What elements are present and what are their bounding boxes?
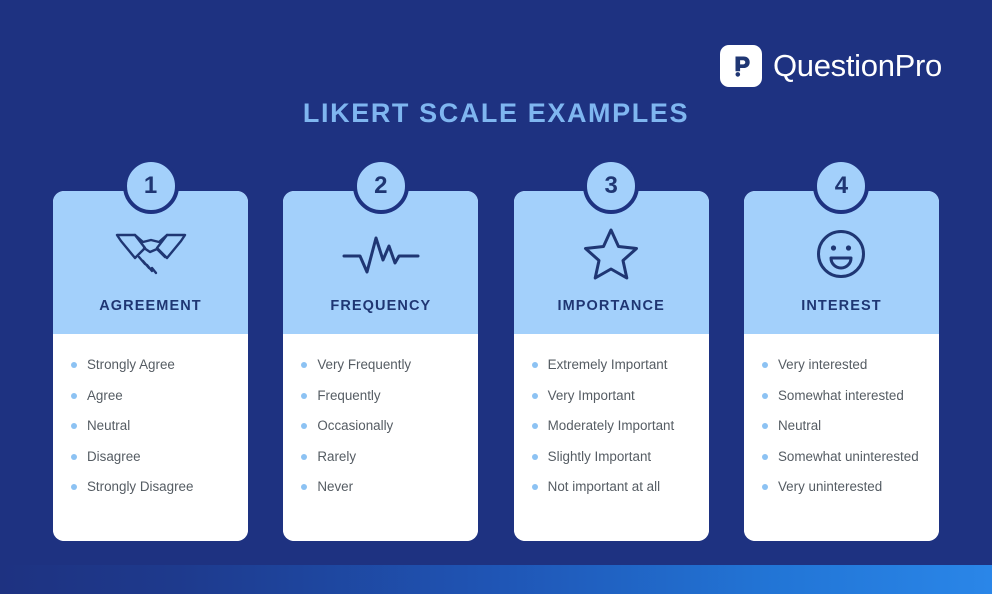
- heartbeat-pulse-icon: [341, 224, 421, 284]
- card-label: INTEREST: [801, 298, 882, 314]
- card-body: Extremely Important Very Important Moder…: [514, 334, 709, 541]
- list-item: Somewhat interested: [758, 387, 925, 406]
- list-item: Neutral: [758, 417, 925, 436]
- card-header: 1 AGREEMENT: [53, 191, 248, 334]
- option-list: Strongly Agree Agree Neutral Disagree St…: [67, 356, 234, 497]
- list-item: Extremely Important: [528, 356, 695, 375]
- list-item: Strongly Agree: [67, 356, 234, 375]
- likert-card-interest: 4 INTEREST Very interested Somewhat inte…: [744, 191, 939, 541]
- list-item: Moderately Important: [528, 417, 695, 436]
- likert-card-frequency: 2 FREQUENCY Very Frequently Frequently O…: [283, 191, 478, 541]
- card-label: FREQUENCY: [330, 298, 431, 314]
- likert-card-agreement: 1 AGREEMENT: [53, 191, 248, 541]
- list-item: Slightly Important: [528, 448, 695, 467]
- card-number-badge: 1: [123, 158, 179, 214]
- list-item: Very Frequently: [297, 356, 464, 375]
- card-body: Strongly Agree Agree Neutral Disagree St…: [53, 334, 248, 541]
- list-item: Rarely: [297, 448, 464, 467]
- card-body: Very interested Somewhat interested Neut…: [744, 334, 939, 541]
- questionpro-p-mark-icon: [720, 45, 762, 87]
- card-number-badge: 3: [583, 158, 639, 214]
- option-list: Very Frequently Frequently Occasionally …: [297, 356, 464, 497]
- list-item: Frequently: [297, 387, 464, 406]
- bottom-gradient-bar: [0, 565, 992, 594]
- smiley-face-icon: [801, 224, 881, 284]
- page-title: LIKERT SCALE EXAMPLES: [0, 98, 992, 129]
- card-label: AGREEMENT: [99, 298, 202, 314]
- card-header: 4 INTEREST: [744, 191, 939, 334]
- likert-card-group: 1 AGREEMENT: [53, 191, 939, 541]
- card-number-badge: 4: [813, 158, 869, 214]
- card-header: 2 FREQUENCY: [283, 191, 478, 334]
- brand-logo: QuestionPro: [720, 45, 942, 87]
- list-item: Occasionally: [297, 417, 464, 436]
- likert-card-importance: 3 IMPORTANCE Extremely Important Very Im…: [514, 191, 709, 541]
- list-item: Disagree: [67, 448, 234, 467]
- list-item: Agree: [67, 387, 234, 406]
- infographic-canvas: QuestionPro LIKERT SCALE EXAMPLES 1: [0, 0, 992, 594]
- list-item: Never: [297, 478, 464, 497]
- star-outline-icon: [571, 224, 651, 284]
- list-item: Not important at all: [528, 478, 695, 497]
- card-body: Very Frequently Frequently Occasionally …: [283, 334, 478, 541]
- list-item: Very uninterested: [758, 478, 925, 497]
- list-item: Very Important: [528, 387, 695, 406]
- card-header: 3 IMPORTANCE: [514, 191, 709, 334]
- option-list: Very interested Somewhat interested Neut…: [758, 356, 925, 497]
- handshake-icon: [111, 224, 191, 284]
- card-number-badge: 2: [353, 158, 409, 214]
- list-item: Very interested: [758, 356, 925, 375]
- option-list: Extremely Important Very Important Moder…: [528, 356, 695, 497]
- list-item: Somewhat uninterested: [758, 448, 925, 467]
- card-label: IMPORTANCE: [557, 298, 664, 314]
- list-item: Neutral: [67, 417, 234, 436]
- list-item: Strongly Disagree: [67, 478, 234, 497]
- brand-name: QuestionPro: [773, 48, 942, 84]
